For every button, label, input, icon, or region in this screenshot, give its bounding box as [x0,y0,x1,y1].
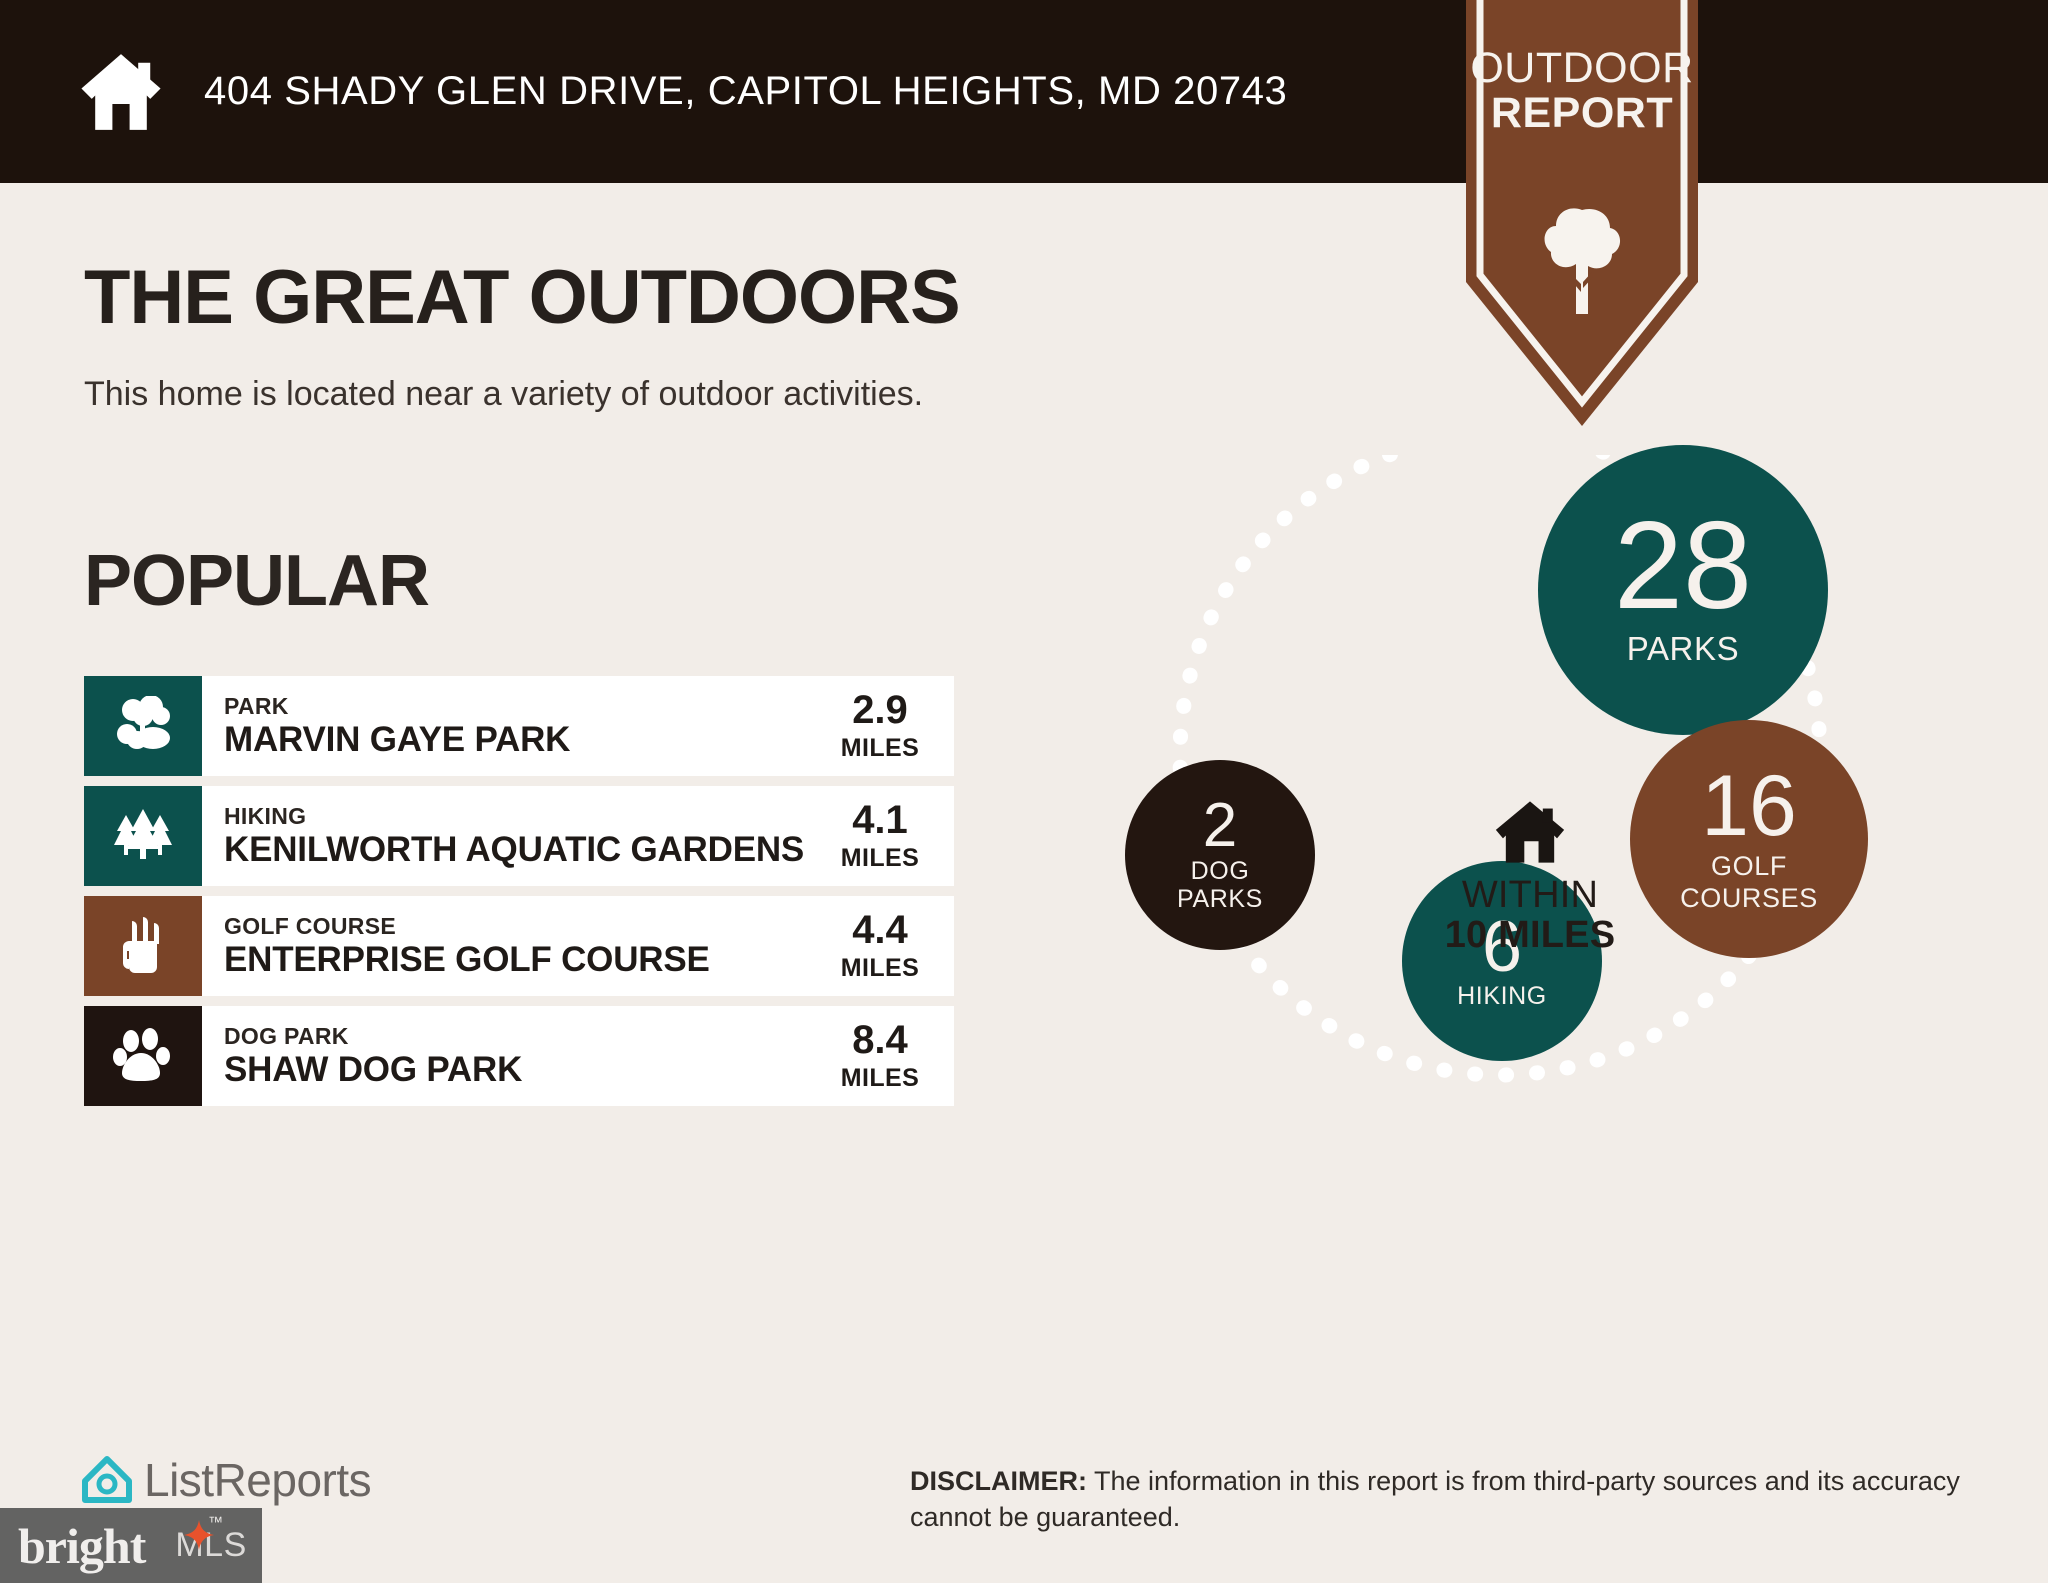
list-item-text: GOLF COURSE ENTERPRISE GOLF COURSE [202,896,822,996]
disclaimer: DISCLAIMER: The information in this repo… [910,1463,1990,1536]
bubble-golf-courses[interactable]: 16 GOLF COURSES [1630,720,1868,958]
distance-unit: MILES [841,1064,919,1093]
page-subtitle: This home is located near a variety of o… [84,375,923,414]
pine-trees-icon [111,807,175,865]
list-item[interactable]: GOLF COURSE ENTERPRISE GOLF COURSE 4.4 M… [84,896,954,996]
listreports-wordmark: ListReports [144,1453,371,1507]
bubble-label: HIKING [1457,983,1547,1009]
distance-value: 4.4 [852,910,908,950]
bright-wordmark: bright [18,1517,145,1575]
bubble-label-line2: PARKS [1177,886,1263,912]
list-item[interactable]: PARK MARVIN GAYE PARK 2.9 MILES [84,676,954,776]
bubble-label-line1: DOG [1191,858,1250,884]
distance-value: 8.4 [852,1020,908,1060]
bubble-label-line2: COURSES [1680,884,1818,912]
distance-unit: MILES [841,734,919,763]
distance-value: 2.9 [852,690,908,730]
property-address: 404 SHADY GLEN DRIVE, CAPITOL HEIGHTS, M… [204,69,1287,114]
disclaimer-label: DISCLAIMER: [910,1466,1087,1496]
list-item-icon-cell [84,676,202,776]
outdoor-report-page: 404 SHADY GLEN DRIVE, CAPITOL HEIGHTS, M… [0,0,2048,1583]
list-item-text: DOG PARK SHAW DOG PARK [202,1006,822,1106]
list-item-distance: 4.4 MILES [822,896,954,996]
distance-unit: MILES [841,954,919,983]
trademark-symbol: ™ [208,1514,223,1531]
bubble-value: 16 [1701,766,1797,848]
popular-heading: POPULAR [84,540,429,622]
within-distance: 10 MILES [1400,916,1660,956]
page-title: THE GREAT OUTDOORS [84,254,960,341]
list-item-name: SHAW DOG PARK [224,1051,822,1090]
badge-line2: REPORT [1466,93,1698,134]
list-item[interactable]: DOG PARK SHAW DOG PARK 8.4 MILES [84,1006,954,1106]
bubble-dog-parks[interactable]: 2 DOG PARKS [1125,760,1315,950]
list-item-distance: 4.1 MILES [822,786,954,886]
list-item-name: MARVIN GAYE PARK [224,721,822,760]
home-icon [78,50,164,134]
list-item-text: PARK MARVIN GAYE PARK [202,676,822,776]
listreports-house-icon [78,1452,136,1508]
list-item-distance: 2.9 MILES [822,676,954,776]
list-item-icon-cell [84,1006,202,1106]
home-icon [1494,800,1566,864]
badge-label: OUTDOOR REPORT [1466,48,1698,134]
amenity-cluster: 28 PARKS 16 GOLF COURSES 6 HIKING 2 DOG … [1080,455,1980,1355]
list-item-text: HIKING KENILWORTH AQUATIC GARDENS [202,786,822,886]
badge-line1: OUTDOOR [1470,44,1693,92]
list-item-distance: 8.4 MILES [822,1006,954,1106]
list-item-name: ENTERPRISE GOLF COURSE [224,941,822,980]
golf-bag-icon [117,915,169,977]
listreports-logo[interactable]: ListReports [78,1452,371,1508]
list-item-category: DOG PARK [224,1022,822,1051]
list-item-icon-cell [84,786,202,886]
paw-print-icon [113,1027,173,1085]
bubble-label: PARKS [1627,632,1739,667]
list-item-category: GOLF COURSE [224,912,822,941]
within-label: WITHIN [1400,876,1660,916]
bubble-parks[interactable]: 28 PARKS [1538,445,1828,735]
bubble-value: 2 [1203,797,1237,856]
list-item-name: KENILWORTH AQUATIC GARDENS [224,831,822,870]
distance-unit: MILES [841,844,919,873]
outdoor-report-badge: OUTDOOR REPORT [1466,0,1698,426]
list-item[interactable]: HIKING KENILWORTH AQUATIC GARDENS 4.1 MI… [84,786,954,886]
list-item-category: PARK [224,692,822,721]
list-item-category: HIKING [224,802,822,831]
page-header: 404 SHADY GLEN DRIVE, CAPITOL HEIGHTS, M… [0,0,2048,183]
distance-value: 4.1 [852,800,908,840]
bubble-label-line1: GOLF [1711,852,1787,880]
bubble-value: 28 [1614,508,1752,626]
popular-list: PARK MARVIN GAYE PARK 2.9 MILES HIKING K… [84,676,954,1116]
park-trees-icon [111,696,175,756]
cluster-center: WITHIN 10 MILES [1400,800,1660,956]
list-item-icon-cell [84,896,202,996]
